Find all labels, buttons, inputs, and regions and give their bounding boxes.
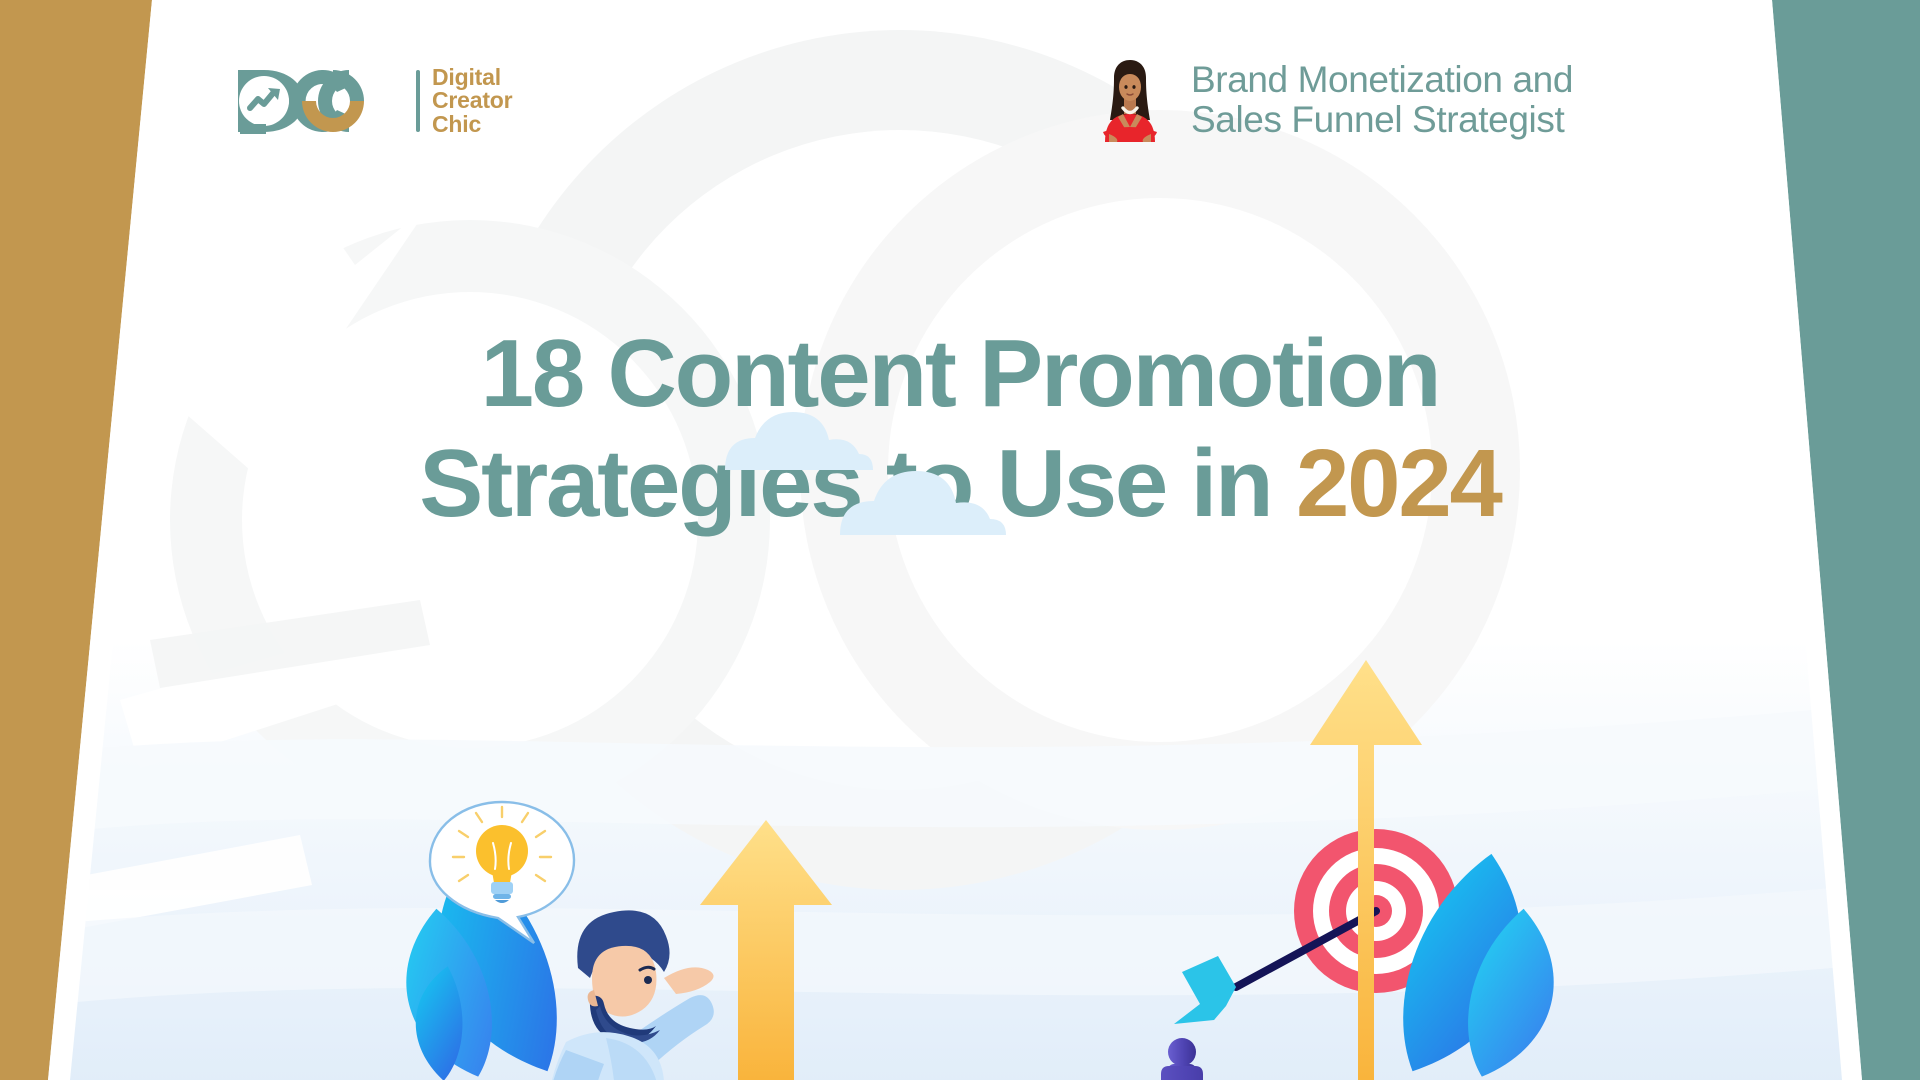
strategist-tagline-block: Brand Monetization andSales Funnel Strat… — [1093, 58, 1573, 142]
logo-word-line-2: Creator — [432, 89, 512, 112]
growth-arrow-small-icon — [700, 820, 832, 1080]
logo-divider — [416, 70, 420, 132]
tagline-line-2: Sales Funnel Strategist — [1191, 99, 1564, 140]
banner-header: Digital Creator Chic — [0, 0, 1920, 200]
logo-wordmark: Digital Creator Chic — [432, 66, 512, 136]
brand-logo[interactable]: Digital Creator Chic — [232, 62, 512, 140]
logo-word-line-1: Digital — [432, 66, 512, 89]
tagline-text: Brand Monetization andSales Funnel Strat… — [1191, 60, 1573, 140]
dcc-monogram-icon — [232, 62, 410, 140]
illustration-layer — [0, 360, 1920, 1080]
tagline-line-1: Brand Monetization and — [1191, 59, 1573, 100]
logo-word-line-3: Chic — [432, 113, 512, 136]
chess-king-icon — [1074, 1038, 1342, 1080]
banner-canvas: Digital Creator Chic — [0, 0, 1920, 1080]
avatar — [1093, 58, 1167, 142]
cloud-icon — [725, 412, 1006, 535]
